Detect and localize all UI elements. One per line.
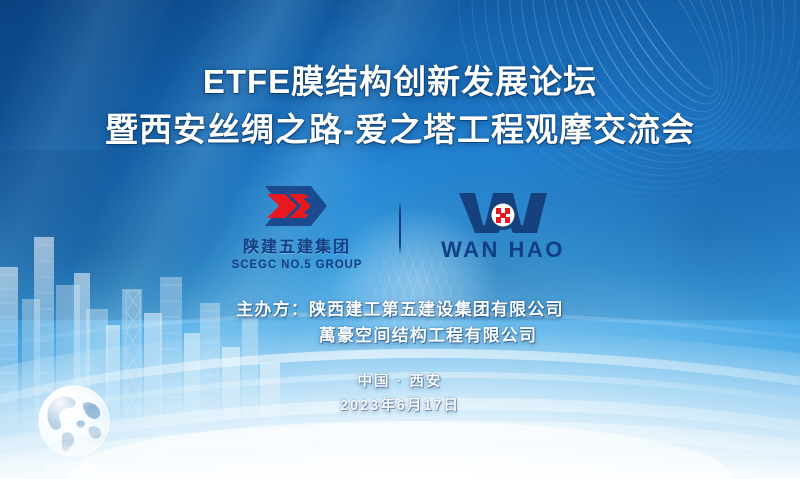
- host-line-1: 主办方：陕西建工第五建设集团有限公司: [236, 297, 564, 323]
- wanhao-w-logo-icon: [449, 192, 557, 234]
- event-date: 2023年6月17日: [340, 395, 460, 419]
- wanhao-wordmark: WAN HAO: [441, 237, 565, 263]
- logo-divider: [399, 201, 401, 255]
- logo-scegc: 陕建五建集团 SCEGC NO.5 GROUP: [209, 185, 385, 271]
- scegc-name-cn: 陕建五建集团: [243, 233, 351, 257]
- scegc-name-en: SCEGC NO.5 GROUP: [232, 259, 363, 271]
- host-line-2: 萬豪空间结构工程有限公司: [236, 323, 564, 349]
- event-poster: ETFE膜结构创新发展论坛 暨西安丝绸之路-爱之塔工程观摩交流会 陕建五建集团 …: [0, 0, 800, 479]
- host-block: 主办方：陕西建工第五建设集团有限公司 萬豪空间结构工程有限公司: [236, 297, 564, 350]
- title-line-2: 暨西安丝绸之路-爱之塔工程观摩交流会: [0, 110, 800, 150]
- logo-wanhao: WAN HAO: [415, 192, 591, 263]
- poster-title: ETFE膜结构创新发展论坛 暨西安丝绸之路-爱之塔工程观摩交流会: [0, 62, 800, 151]
- scegc-chevron-logo-icon: [245, 185, 349, 227]
- title-line-1: ETFE膜结构创新发展论坛: [0, 62, 800, 102]
- event-meta: 中国 · 西安 2023年6月17日: [340, 371, 460, 419]
- logo-row: 陕建五建集团 SCEGC NO.5 GROUP WAN HAO: [209, 185, 591, 271]
- event-location: 中国 · 西安: [340, 371, 460, 395]
